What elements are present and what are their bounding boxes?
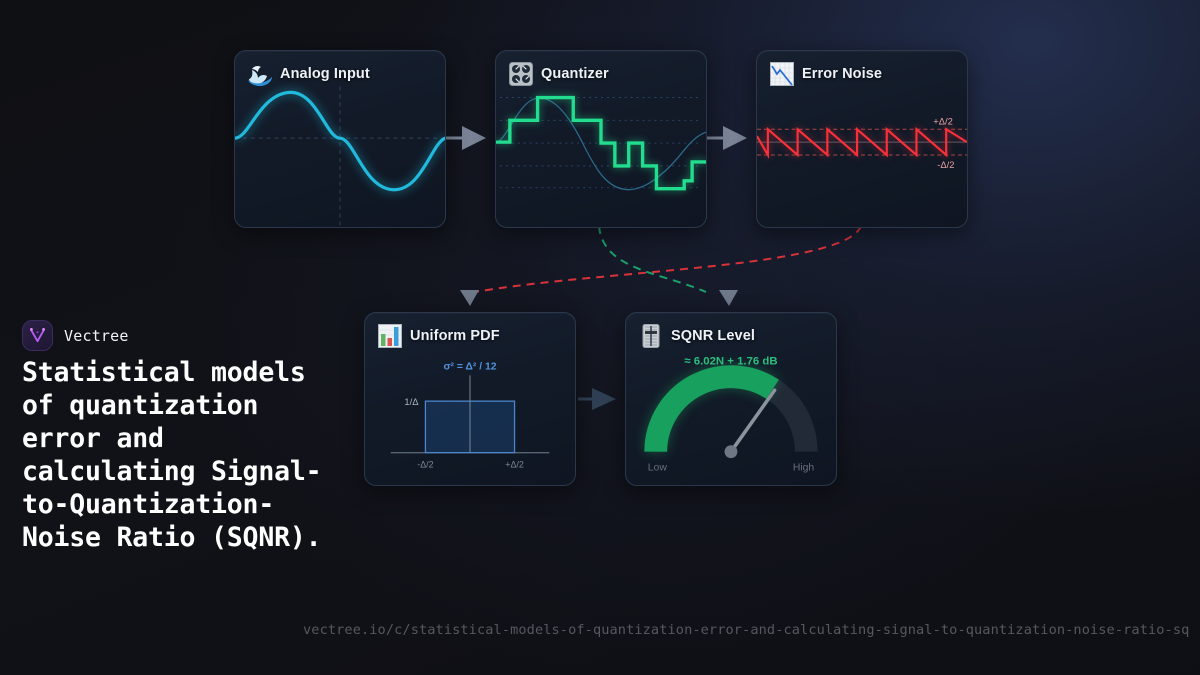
card-uniform-pdf-title: Uniform PDF — [410, 328, 500, 344]
vectree-v-logo-icon — [22, 320, 53, 351]
connector-analog-to-quantizer — [446, 126, 486, 150]
card-uniform-pdf-header: Uniform PDF — [377, 323, 500, 349]
level-slider-icon — [638, 323, 664, 349]
card-error-noise-title: Error Noise — [802, 66, 882, 82]
page-title: Statistical models of quantization error… — [22, 356, 322, 554]
connector-quantizer-to-errornoise — [707, 126, 747, 150]
brand-row: Vectree — [22, 320, 129, 351]
pdf-variance-formula: σ² = Δ² / 12 — [443, 361, 496, 372]
card-analog-input-header: Analog Input — [247, 61, 370, 87]
gauge-low-label: Low — [648, 462, 668, 473]
card-error-noise-header: Error Noise — [769, 61, 882, 87]
card-quantizer-title: Quantizer — [541, 66, 609, 82]
card-quantizer[interactable]: Quantizer — [495, 50, 707, 228]
card-sqnr-level-header: SQNR Level — [638, 323, 755, 349]
pdf-y-label: 1/Δ — [404, 396, 418, 407]
sqnr-readout: ≈ 6.02N + 1.76 dB — [684, 356, 777, 368]
card-error-noise[interactable]: +Δ/2 -Δ/2 Error Noise — [756, 50, 968, 228]
card-analog-input-title: Analog Input — [280, 66, 370, 82]
wave-icon — [247, 61, 273, 87]
vectree-glyph — [28, 326, 47, 345]
card-sqnr-level-title: SQNR Level — [671, 328, 755, 344]
card-quantizer-header: Quantizer — [508, 61, 609, 87]
pdf-x-right-label: +Δ/2 — [505, 460, 524, 470]
card-sqnr-level[interactable]: ≈ 6.02N + 1.76 dB Low High SQNR Level — [625, 312, 837, 486]
slide-canvas: Analog Input — [0, 0, 1200, 675]
gauge-high-label: High — [793, 462, 815, 473]
chart-decreasing-icon — [769, 61, 795, 87]
card-analog-input[interactable]: Analog Input — [234, 50, 446, 228]
page-url: vectree.io/c/statistical-models-of-quant… — [303, 622, 1200, 638]
card-uniform-pdf[interactable]: σ² = Δ² / 12 1/Δ -Δ/2 +Δ/2 Uniform PDF — [364, 312, 576, 486]
error-noise-upper-label: +Δ/2 — [933, 115, 953, 126]
brand-name: Vectree — [64, 327, 129, 345]
connector-pdf-to-sqnr — [578, 388, 616, 410]
connector-errornoise-to-pdf — [460, 226, 861, 306]
error-noise-lower-label: -Δ/2 — [937, 159, 954, 170]
bar-chart-icon — [377, 323, 403, 349]
pdf-x-left-label: -Δ/2 — [417, 460, 433, 470]
control-knobs-icon — [508, 61, 534, 87]
connector-quantizer-to-sqnr — [599, 226, 738, 306]
